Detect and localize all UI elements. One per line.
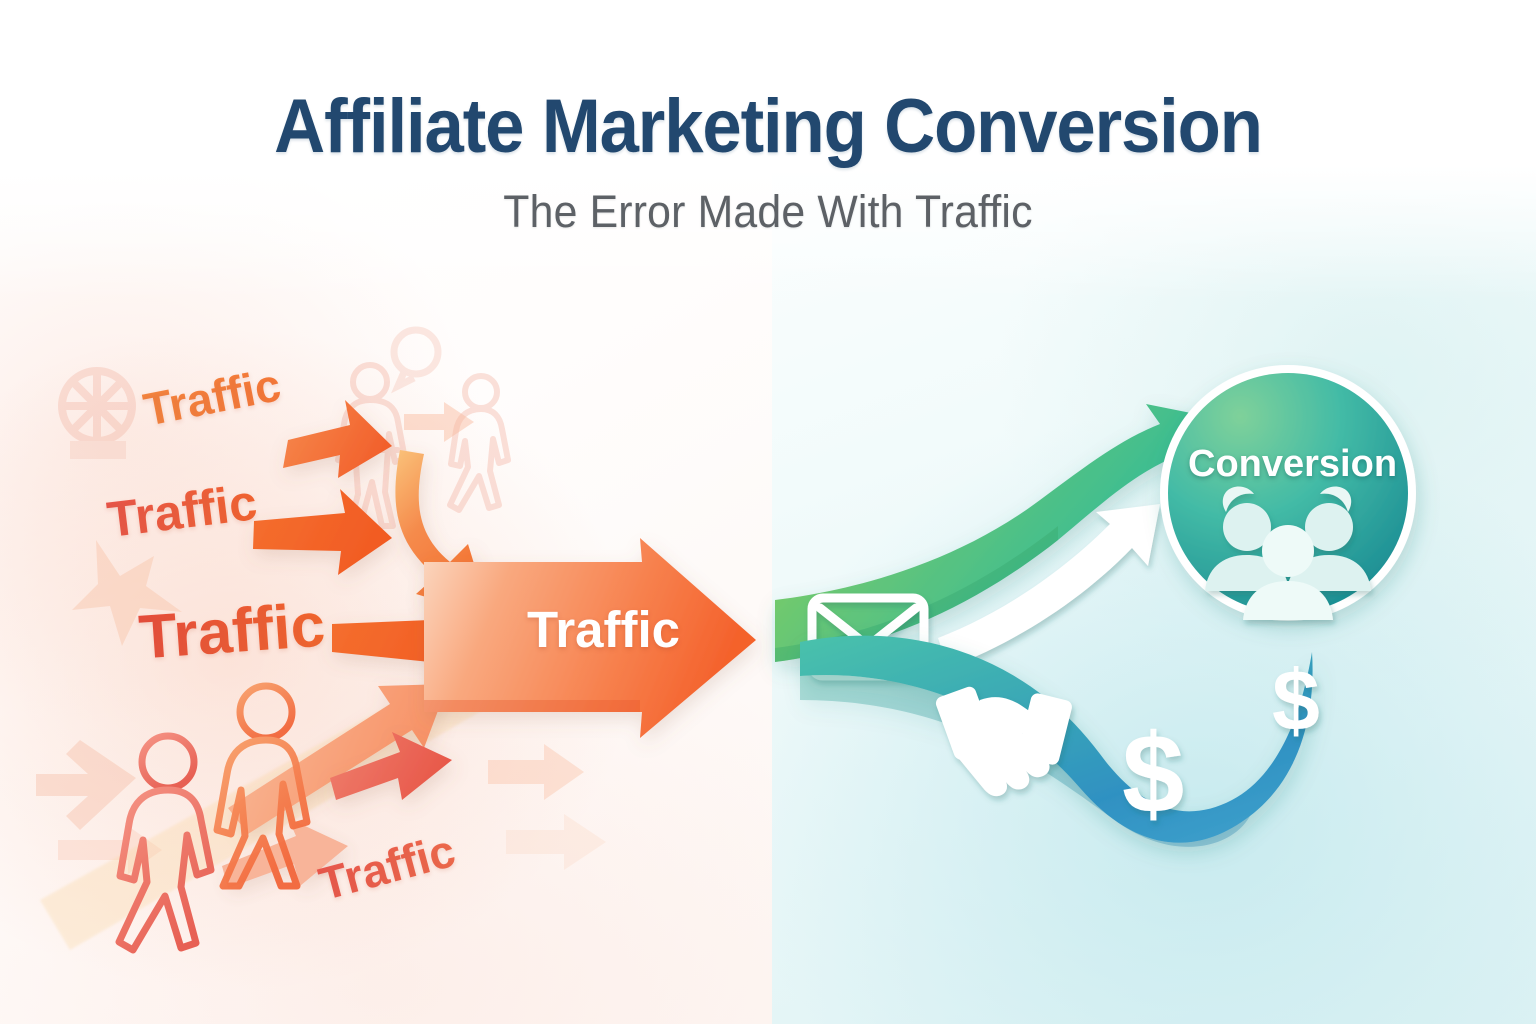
arrow-faint-far-right	[506, 814, 606, 870]
handshake-icon	[934, 685, 1073, 796]
dollar-icon: $	[1272, 653, 1320, 749]
svg-text:$: $	[1272, 653, 1320, 749]
infographic-canvas: Affiliate Marketing Conversion The Error…	[0, 0, 1536, 1024]
main-arrow-label: Traffic	[527, 600, 680, 659]
conversion-badge-label: Conversion	[1188, 443, 1397, 486]
dollar-icon: $	[1122, 711, 1184, 836]
arrow-faint-right-mid	[488, 744, 584, 800]
arrow-faint-small	[404, 402, 474, 442]
speech-bubble-icon	[394, 330, 438, 386]
svg-text:$: $	[1122, 711, 1184, 836]
arrow-faint-upleft	[36, 740, 136, 830]
traffic-arrow-2	[253, 489, 392, 575]
film-reel-icon	[62, 371, 132, 459]
traffic-label-3: Traffic	[137, 590, 328, 674]
traffic-arrow-1	[283, 400, 392, 478]
person-walking-icon	[450, 376, 508, 510]
